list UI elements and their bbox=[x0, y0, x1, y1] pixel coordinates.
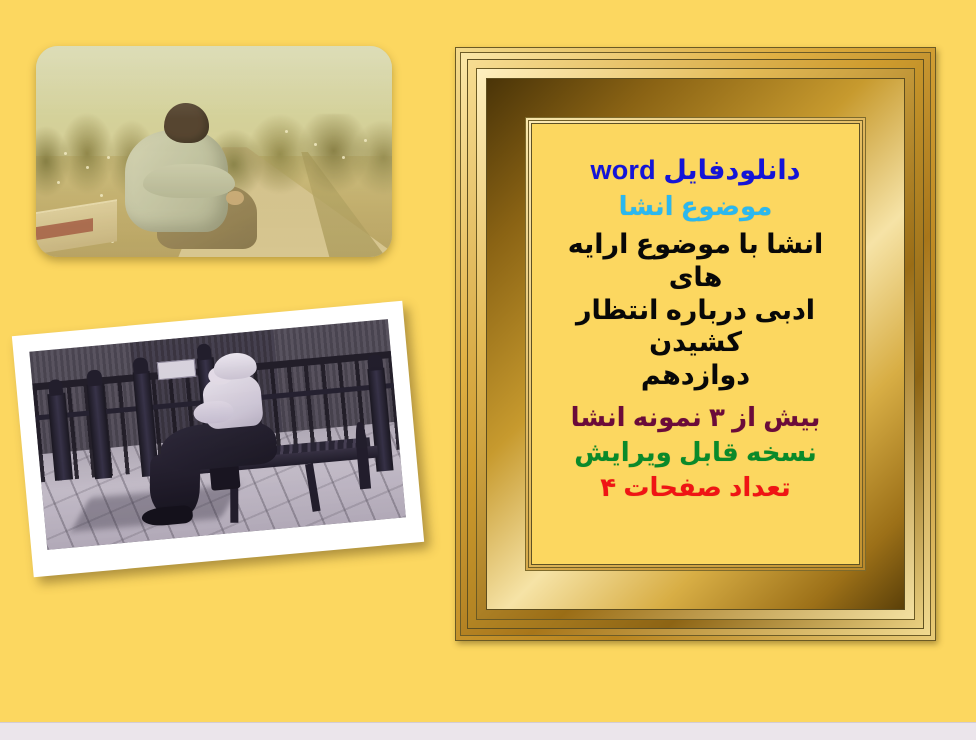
bottom-status-strip bbox=[0, 722, 976, 740]
text-download-word: دانلودفایل word bbox=[532, 154, 859, 187]
text-sample-count: بیش از ۳ نمونه انشا bbox=[532, 402, 859, 434]
gold-picture-frame: دانلودفایل word موضوع انشا انشا با موضوع… bbox=[455, 47, 936, 641]
text-page-count: تعداد صفحات ۴ bbox=[532, 472, 859, 504]
text-subject-essay: موضوع انشا bbox=[532, 191, 859, 223]
text-essay-topic-description: انشا با موضوع ارایه های ادبی درباره انتظ… bbox=[532, 228, 859, 393]
bench-scene bbox=[29, 319, 406, 550]
photo-person-on-bench[interactable] bbox=[12, 301, 424, 578]
warm-overlay bbox=[36, 46, 392, 257]
text-editable-version: نسخه قابل ویرایش bbox=[532, 437, 859, 469]
photo-person-by-dirt-road[interactable] bbox=[36, 46, 392, 257]
frame-inner-panel: دانلودفایل word موضوع انشا انشا با موضوع… bbox=[531, 123, 860, 565]
bw-tone-overlay bbox=[29, 319, 406, 550]
road-scene bbox=[36, 46, 392, 257]
slide-canvas: دانلودفایل word موضوع انشا انشا با موضوع… bbox=[0, 0, 976, 740]
